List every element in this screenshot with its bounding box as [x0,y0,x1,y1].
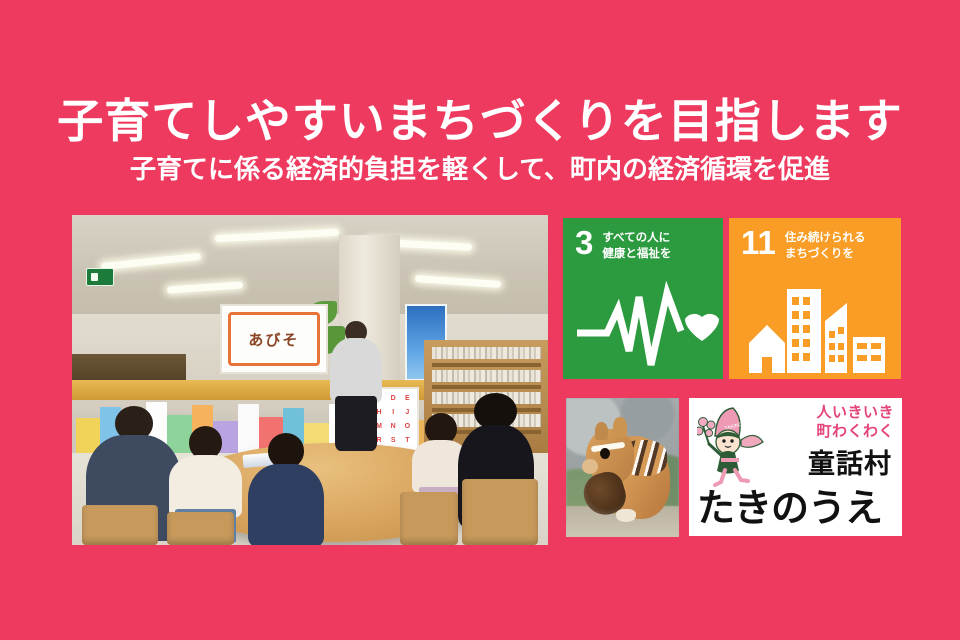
sdg-number: 3 [575,228,593,257]
chipmunk-ear [613,417,627,436]
sdg-number: 11 [741,228,776,257]
chipmunk-ear [595,422,607,440]
sdg-badge-3: 3 すべての人に 健康と福祉を [563,218,723,379]
chair [462,479,538,545]
library-sign: あびそ [220,304,329,374]
chair [82,505,158,545]
seated-child-center [248,433,324,545]
chipmunk-snout [582,459,598,474]
sdg-badge-11: 11 住み続けられる まちづくりを [729,218,901,379]
chipmunk-paw [616,509,636,522]
chair [400,492,457,545]
emergency-exit-icon [86,268,114,286]
page-title: 子育てしやすいまちづくりを目指します [0,96,960,147]
standing-adult [320,321,391,446]
logo-village-text: 童話村 [808,442,892,481]
library-sign-text: あびそ [228,312,320,366]
logo-town-name: たきのうえ [697,477,882,532]
library-photo: あびそ [72,215,548,545]
heartbeat-icon [563,281,723,373]
sdg-label: すべての人に 健康と福祉を [602,228,671,263]
chipmunk-photo [566,398,679,537]
slide-canvas: 子育てしやすいまちづくりを目指します 子育てに係る経済的負担を軽くして、町内の経… [0,0,960,640]
page-subtitle: 子育てに係る経済的負担を軽くして、町内の経済循環を促進 [0,155,960,185]
chair [167,512,234,545]
sdg-label: 住み続けられる まちづくりを [785,228,866,263]
logo-tagline: 人いきいき 町わくわく [816,404,894,442]
city-buildings-icon [729,281,901,373]
town-logo: TAKINOUE 人いきいき 町わくわく 童話 [689,398,902,536]
